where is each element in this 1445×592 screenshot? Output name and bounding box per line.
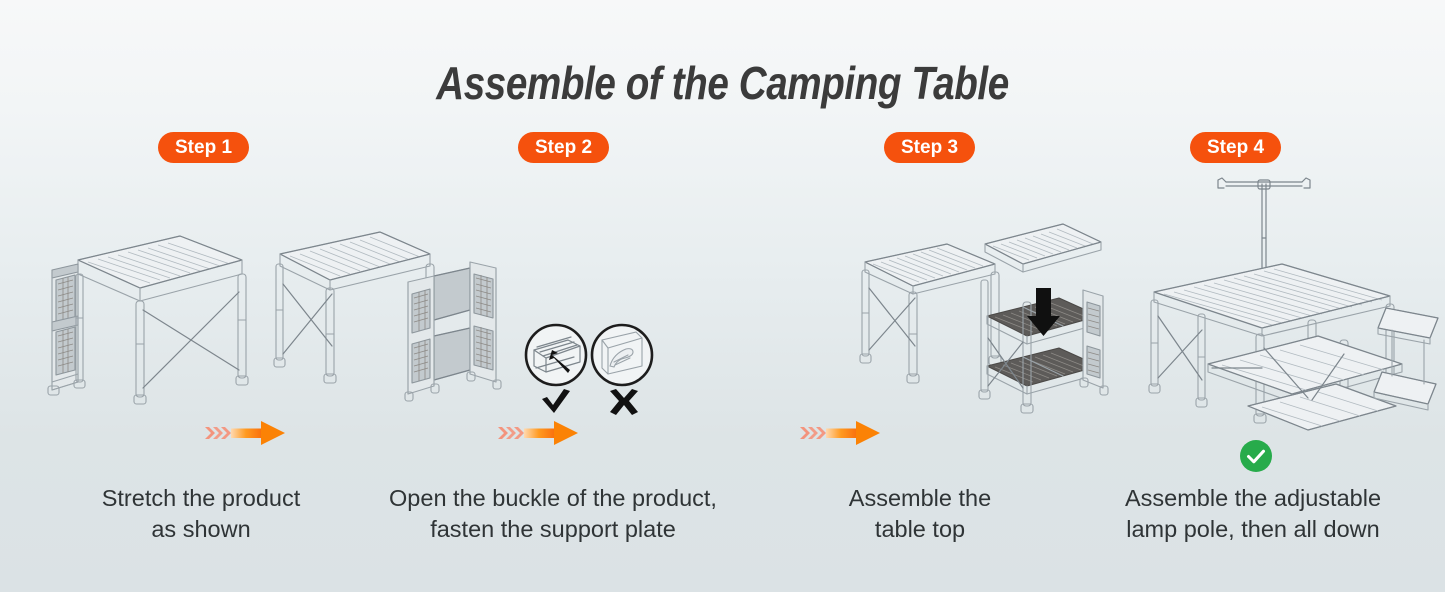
illustration-step-2: [262, 224, 502, 424]
cross-mark-icon: [610, 389, 638, 415]
callout-incorrect: [592, 325, 652, 385]
step-badge-4: Step 4: [1190, 132, 1281, 163]
page-title: Assemble of the Camping Table: [116, 56, 1330, 110]
buckle-callouts: [524, 322, 654, 392]
illustration-step-1: [30, 222, 250, 417]
step-badge-1: Step 1: [158, 132, 249, 163]
illustration-step-4: [1140, 168, 1445, 433]
step-caption-4: Assemble the adjustable lamp pole, then …: [1078, 483, 1428, 545]
buckle-callout-marks: [536, 388, 642, 422]
step-caption-2: Open the buckle of the product, fasten t…: [368, 483, 738, 545]
illustration-step-3: [855, 220, 1105, 420]
check-mark-icon: [542, 389, 570, 413]
step-caption-1: Stretch the product as shown: [26, 483, 376, 545]
completion-check-badge: [1240, 440, 1272, 472]
flow-arrow-2: [496, 418, 582, 448]
flow-arrow-3: [798, 418, 884, 448]
step-badge-2: Step 2: [518, 132, 609, 163]
step-caption-3: Assemble the table top: [780, 483, 1060, 545]
instruction-graphic: Assemble of the Camping Table Step 1: [0, 0, 1445, 592]
callout-correct: [526, 325, 586, 385]
green-circle: [1240, 440, 1272, 472]
step-badge-3: Step 3: [884, 132, 975, 163]
